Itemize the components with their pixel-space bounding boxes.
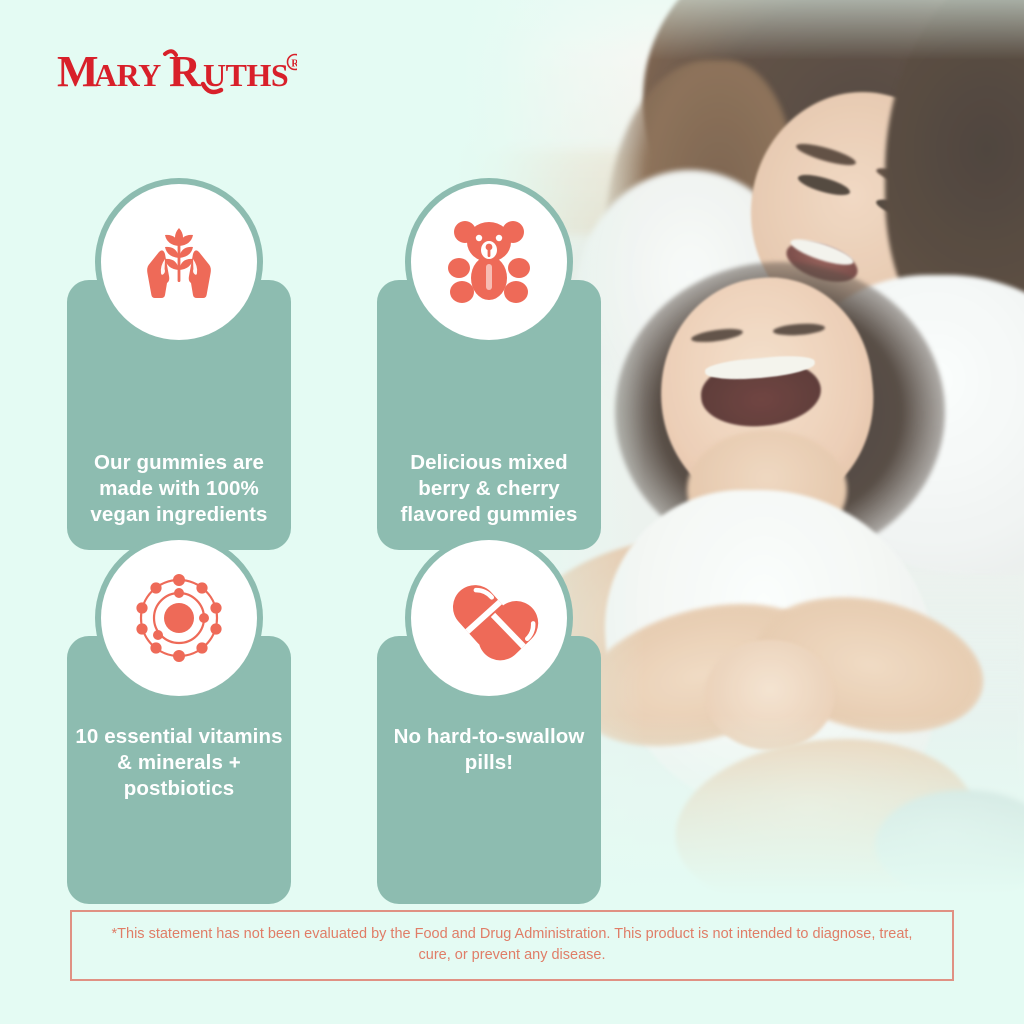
- svg-text:R: R: [169, 47, 202, 96]
- card-icon-circle: [411, 184, 567, 340]
- gummy-bear-icon: [441, 212, 537, 312]
- hands-holding-wheat-icon: [129, 212, 229, 312]
- card-icon-circle: [101, 184, 257, 340]
- svg-text:'S: 'S: [262, 57, 289, 93]
- brand-logo[interactable]: M ARY R UTH 'S R: [57, 44, 297, 100]
- svg-text:M: M: [57, 47, 98, 96]
- svg-text:ARY: ARY: [94, 57, 161, 93]
- card-icon-circle: [411, 540, 567, 696]
- molecule-atom-icon: [128, 567, 230, 669]
- card-label: Our gummies are made with 100% vegan ing…: [67, 450, 291, 528]
- fda-disclaimer: *This statement has not been evaluated b…: [70, 910, 954, 981]
- card-label: Delicious mixed berry & cherry flavored …: [377, 450, 601, 528]
- svg-text:R: R: [291, 59, 297, 70]
- card-icon-circle: [101, 540, 257, 696]
- card-label: 10 essential vitamins & minerals + postb…: [67, 724, 291, 802]
- capsule-pills-icon: [437, 568, 541, 668]
- card-label: No hard-to-swallow pills!: [377, 724, 601, 776]
- promo-infographic: M ARY R UTH 'S R: [0, 0, 1024, 1024]
